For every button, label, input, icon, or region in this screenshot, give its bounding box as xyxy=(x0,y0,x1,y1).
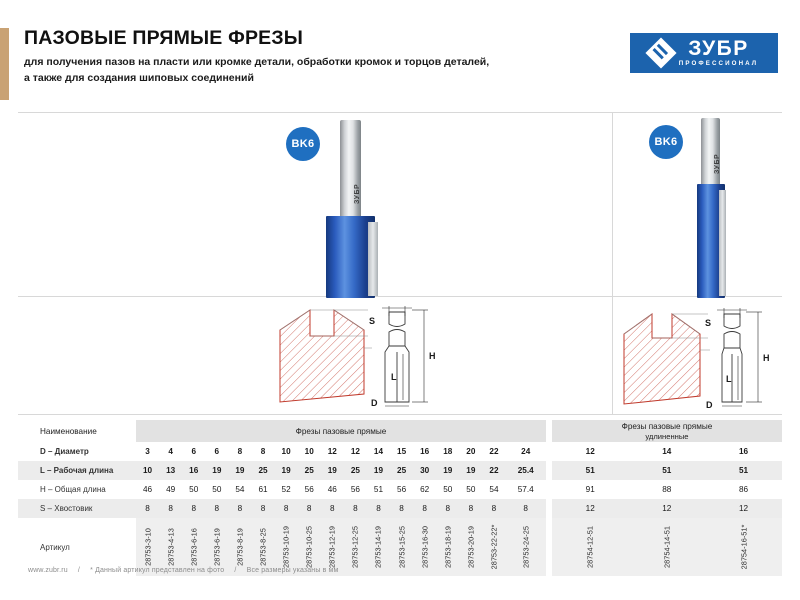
cell-L-11: 25 xyxy=(390,461,413,480)
subtitle-line-2: а также для создания шиповых соединений xyxy=(24,72,254,84)
shank-brand-text: ЗУБР xyxy=(354,184,361,204)
cell-D-7: 10 xyxy=(298,442,321,461)
cell-D-9: 12 xyxy=(344,442,367,461)
article-cell-15: 28753-22-22* xyxy=(482,518,505,576)
cell-H-11: 56 xyxy=(390,480,413,499)
cell-ext-H-0: 91 xyxy=(552,480,629,499)
page-subtitle: для получения пазов на пласти или кромке… xyxy=(24,55,584,85)
technical-drawing-extended: S H L D xyxy=(604,302,779,412)
cell-D-6: 10 xyxy=(275,442,298,461)
cell-ext-L-0: 51 xyxy=(552,461,629,480)
cell-S-15: 8 xyxy=(482,499,505,518)
table-body: D – Диаметр 3 4 6 6 8 8 10 10 12 12 14 1… xyxy=(18,442,782,576)
cell-S-11: 8 xyxy=(390,499,413,518)
cell-S-14: 8 xyxy=(459,499,482,518)
header-block: ПАЗОВЫЕ ПРЯМЫЕ ФРЕЗЫ для получения пазов… xyxy=(24,28,584,86)
logo-wordmark: ЗУБР xyxy=(688,38,749,59)
spec-table: Наименование Фрезы пазовые прямые Фрезы … xyxy=(18,420,782,576)
cell-H-16: 57.4 xyxy=(506,480,546,499)
cell-D-10: 14 xyxy=(367,442,390,461)
cell-ext-D-0: 12 xyxy=(552,442,629,461)
cell-S-13: 8 xyxy=(436,499,459,518)
cell-S-1: 8 xyxy=(159,499,182,518)
dim-label-H: H xyxy=(429,351,436,361)
article-cell-12: 28753-16-30 xyxy=(413,518,436,576)
article-cell-16: 28753-24-25 xyxy=(506,518,546,576)
product-photo-extended: BK6 ЗУБР xyxy=(645,112,765,296)
dim-label-L-ext: L xyxy=(726,374,732,384)
cell-S-12: 8 xyxy=(413,499,436,518)
cell-D-8: 12 xyxy=(321,442,344,461)
cell-D-0: 3 xyxy=(136,442,159,461)
cell-D-5: 8 xyxy=(251,442,274,461)
cell-H-4: 54 xyxy=(228,480,251,499)
cell-L-6: 19 xyxy=(275,461,298,480)
cell-S-16: 8 xyxy=(506,499,546,518)
row-label-L: L – Рабочая длина xyxy=(18,461,136,480)
cell-S-6: 8 xyxy=(275,499,298,518)
cell-S-10: 8 xyxy=(367,499,390,518)
product-photo-standard: BK6 ЗУБР xyxy=(280,112,400,296)
cell-H-6: 52 xyxy=(275,480,298,499)
cell-ext-S-2: 12 xyxy=(705,499,782,518)
cell-ext-S-1: 12 xyxy=(629,499,706,518)
cell-L-14: 19 xyxy=(459,461,482,480)
cell-ext-S-0: 12 xyxy=(552,499,629,518)
footer-note-units: Все размеры указаны в мм xyxy=(247,567,339,574)
cell-H-2: 50 xyxy=(182,480,205,499)
cell-ext-D-1: 14 xyxy=(629,442,706,461)
footer-note-photo: * Данный артикул представлен на фото xyxy=(90,567,224,574)
article-cell-ext-2: 28754-16-51* xyxy=(705,518,782,576)
datasheet-page: ПАЗОВЫЕ ПРЯМЫЕ ФРЕЗЫ для получения пазов… xyxy=(0,0,800,600)
accent-bar xyxy=(0,28,9,100)
cell-L-8: 19 xyxy=(321,461,344,480)
cell-L-0: 10 xyxy=(136,461,159,480)
cell-H-14: 50 xyxy=(459,480,482,499)
table-row-S: S – Хвостовик 8 8 8 8 8 8 8 8 8 8 8 8 8 … xyxy=(18,499,782,518)
table-row-D: D – Диаметр 3 4 6 6 8 8 10 10 12 12 14 1… xyxy=(18,442,782,461)
cell-H-5: 61 xyxy=(251,480,274,499)
cell-L-12: 30 xyxy=(413,461,436,480)
article-cell-ext-0: 28754-12-51 xyxy=(552,518,629,576)
divider-bottom xyxy=(18,414,782,415)
article-cell-9: 28753-12-25 xyxy=(344,518,367,576)
cutting-edge-extended xyxy=(719,190,726,296)
subtitle-line-1: для получения пазов на пласти или кромке… xyxy=(24,56,489,68)
zubr-arrow-icon xyxy=(645,37,676,68)
cell-H-12: 62 xyxy=(413,480,436,499)
cell-ext-H-1: 88 xyxy=(629,480,706,499)
footer-sep-2: / xyxy=(234,567,236,574)
cell-L-4: 19 xyxy=(228,461,251,480)
group-header-extended-line2: удлиненные xyxy=(552,432,782,441)
page-title: ПАЗОВЫЕ ПРЯМЫЕ ФРЕЗЫ xyxy=(24,28,584,49)
article-cell-11: 28753-15-25 xyxy=(390,518,413,576)
cell-H-13: 50 xyxy=(436,480,459,499)
row-label-S: S – Хвостовик xyxy=(18,499,136,518)
cell-H-7: 56 xyxy=(298,480,321,499)
technical-drawing-standard: S H L D xyxy=(272,302,447,410)
cell-S-3: 8 xyxy=(205,499,228,518)
cell-S-5: 8 xyxy=(251,499,274,518)
cell-L-15: 22 xyxy=(482,461,505,480)
table-row-H: H – Общая длина 46 49 50 50 54 61 52 56 … xyxy=(18,480,782,499)
table-row-L: L – Рабочая длина 10 13 16 19 19 25 19 2… xyxy=(18,461,782,480)
row-label-H: H – Общая длина xyxy=(18,480,136,499)
cell-H-1: 49 xyxy=(159,480,182,499)
row-label-D: D – Диаметр xyxy=(18,442,136,461)
footer-site[interactable]: www.zubr.ru xyxy=(28,567,68,574)
cell-H-15: 54 xyxy=(482,480,505,499)
cell-L-13: 19 xyxy=(436,461,459,480)
workpiece-section-extended xyxy=(624,314,710,404)
cell-L-7: 25 xyxy=(298,461,321,480)
cutter-outline-extended xyxy=(722,314,742,402)
dim-label-H-ext: H xyxy=(763,353,770,363)
cell-ext-D-2: 16 xyxy=(705,442,782,461)
group-header-extended-line1: Фрезы пазовые прямые xyxy=(622,422,713,431)
cell-D-12: 16 xyxy=(413,442,436,461)
cell-S-2: 8 xyxy=(182,499,205,518)
cell-D-13: 18 xyxy=(436,442,459,461)
cell-H-10: 51 xyxy=(367,480,390,499)
workpiece-section-standard xyxy=(280,310,372,402)
cell-H-9: 56 xyxy=(344,480,367,499)
dim-label-D: D xyxy=(371,398,378,408)
cell-L-2: 16 xyxy=(182,461,205,480)
group-header-extended: Фрезы пазовые прямые удлиненные xyxy=(552,420,782,442)
divider-middle xyxy=(18,296,782,297)
dim-label-S-ext: S xyxy=(705,318,711,328)
cell-L-10: 19 xyxy=(367,461,390,480)
badge-bk6-extended: BK6 xyxy=(649,125,683,159)
cell-L-5: 25 xyxy=(251,461,274,480)
cell-D-2: 6 xyxy=(182,442,205,461)
cell-D-16: 24 xyxy=(506,442,546,461)
article-cell-10: 28753-14-19 xyxy=(367,518,390,576)
group-header-main: Фрезы пазовые прямые xyxy=(136,420,546,442)
cell-D-14: 20 xyxy=(459,442,482,461)
cutting-edge-standard xyxy=(368,222,378,296)
cell-L-3: 19 xyxy=(205,461,228,480)
article-cell-14: 28753-20-19 xyxy=(459,518,482,576)
cutter-outline-standard xyxy=(385,312,409,402)
dim-label-S: S xyxy=(369,316,375,326)
dim-label-D-ext: D xyxy=(706,400,713,410)
cell-ext-H-2: 86 xyxy=(705,480,782,499)
table-group-header-row: Наименование Фрезы пазовые прямые Фрезы … xyxy=(18,420,782,442)
dim-label-L: L xyxy=(391,372,397,382)
cell-H-8: 46 xyxy=(321,480,344,499)
cell-H-0: 46 xyxy=(136,480,159,499)
cell-L-1: 13 xyxy=(159,461,182,480)
cell-D-15: 22 xyxy=(482,442,505,461)
logo-tagline: ПРОФЕССИОНАЛ xyxy=(679,61,758,67)
cell-L-9: 25 xyxy=(344,461,367,480)
table-corner-label: Наименование xyxy=(18,420,136,442)
cell-H-3: 50 xyxy=(205,480,228,499)
badge-bk6-standard: BK6 xyxy=(286,127,320,161)
article-cell-ext-1: 28754-14-51 xyxy=(629,518,706,576)
cell-S-4: 8 xyxy=(228,499,251,518)
cell-D-11: 15 xyxy=(390,442,413,461)
cell-ext-L-2: 51 xyxy=(705,461,782,480)
cell-D-1: 4 xyxy=(159,442,182,461)
cell-D-4: 8 xyxy=(228,442,251,461)
article-cell-13: 28753-18-19 xyxy=(436,518,459,576)
cell-D-3: 6 xyxy=(205,442,228,461)
cell-S-9: 8 xyxy=(344,499,367,518)
cell-S-0: 8 xyxy=(136,499,159,518)
cell-ext-L-1: 51 xyxy=(629,461,706,480)
shank-brand-text-extended: ЗУБР xyxy=(714,154,721,174)
footer-note: www.zubr.ru / * Данный артикул представл… xyxy=(24,567,343,574)
cell-L-16: 25.4 xyxy=(506,461,546,480)
footer-sep-1: / xyxy=(78,567,80,574)
brand-logo: ЗУБР ПРОФЕССИОНАЛ xyxy=(630,33,778,73)
cell-S-7: 8 xyxy=(298,499,321,518)
shank-standard xyxy=(340,120,361,224)
cell-S-8: 8 xyxy=(321,499,344,518)
